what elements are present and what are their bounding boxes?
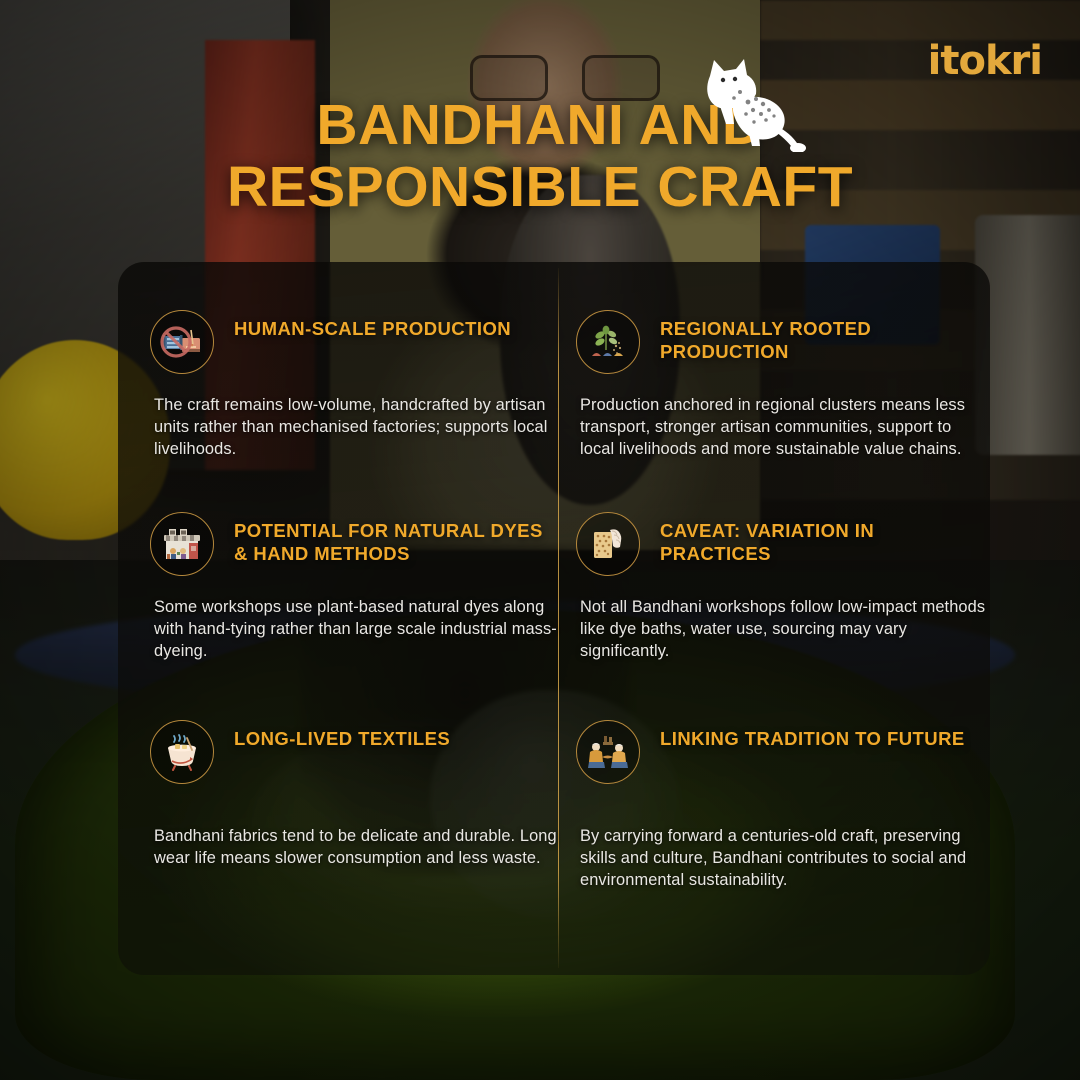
card-title: LONG-LIVED TEXTILES: [234, 720, 450, 751]
card-title: HUMAN-SCALE PRODUCTION: [234, 310, 511, 341]
workshop-building-icon: [159, 521, 205, 567]
card-header: REGIONALLY ROOTED PRODUCTION: [576, 310, 986, 374]
icon-ring: [576, 310, 640, 374]
card-body: Bandhani fabrics tend to be delicate and…: [150, 826, 560, 870]
card-body: Not all Bandhani workshops follow low-im…: [576, 597, 986, 662]
card-body: By carrying forward a centuries-old craf…: [576, 826, 986, 891]
no-factory-icon: [160, 320, 204, 364]
card-body: Some workshops use plant-based natural d…: [150, 597, 560, 662]
page-title-line-1: BANDHANI AND: [0, 95, 1080, 157]
card-regionally-rooted-production: REGIONALLY ROOTED PRODUCTION Production …: [576, 310, 986, 460]
card-header: LONG-LIVED TEXTILES: [150, 720, 560, 784]
card-title: REGIONALLY ROOTED PRODUCTION: [660, 310, 980, 363]
card-header: HUMAN-SCALE PRODUCTION: [150, 310, 560, 374]
card-linking-tradition-to-future: LINKING TRADITION TO FUTURE By carrying …: [576, 720, 986, 891]
card-header: CAVEAT: VARIATION IN PRACTICES: [576, 512, 986, 576]
icon-ring: [150, 720, 214, 784]
icon-ring: [576, 720, 640, 784]
page-title-line-2: RESPONSIBLE CRAFT: [0, 157, 1080, 219]
card-body: Production anchored in regional clusters…: [576, 395, 986, 460]
card-long-lived-textiles: LONG-LIVED TEXTILES Bandhani fabrics ten…: [150, 720, 560, 870]
header: itokri BANDHANI AND RESPONSIBLE CRAFT: [0, 0, 1080, 250]
steaming-dye-pot-icon: [160, 730, 204, 774]
seedling-pigments-icon: [586, 320, 630, 364]
card-title: CAVEAT: VARIATION IN PRACTICES: [660, 512, 980, 565]
card-human-scale-production: HUMAN-SCALE PRODUCTION The craft remains…: [150, 310, 560, 460]
two-artisans-icon: [586, 730, 630, 774]
card-header: LINKING TRADITION TO FUTURE: [576, 720, 986, 784]
cat-icon: [690, 52, 808, 152]
icon-ring: [150, 310, 214, 374]
icon-ring: [150, 512, 214, 576]
card-grid: HUMAN-SCALE PRODUCTION The craft remains…: [118, 262, 990, 975]
card-header: POTENTIAL FOR NATURAL DYES & HAND METHOD…: [150, 512, 560, 576]
card-title: POTENTIAL FOR NATURAL DYES & HAND METHOD…: [234, 512, 554, 565]
brand-logo[interactable]: itokri: [928, 38, 1042, 84]
card-title: LINKING TRADITION TO FUTURE: [660, 720, 965, 751]
page-title: BANDHANI AND RESPONSIBLE CRAFT: [0, 95, 1080, 218]
hand-holding-fabric-icon: [586, 522, 630, 566]
card-body: The craft remains low-volume, handcrafte…: [150, 395, 560, 460]
icon-ring: [576, 512, 640, 576]
card-caveat-variation-in-practices: CAVEAT: VARIATION IN PRACTICES Not all B…: [576, 512, 986, 662]
card-natural-dyes-hand-methods: POTENTIAL FOR NATURAL DYES & HAND METHOD…: [150, 512, 560, 662]
